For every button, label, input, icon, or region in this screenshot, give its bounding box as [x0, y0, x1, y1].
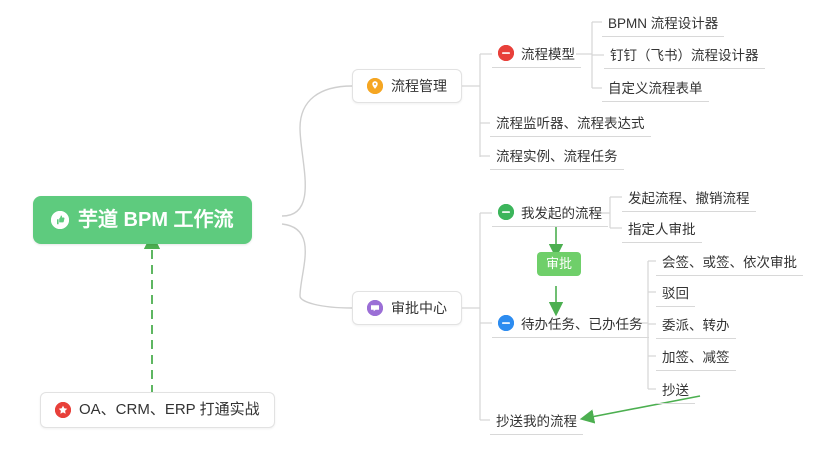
mindmap-canvas: 芋道 BPM 工作流 流程管理 流程模型 BPMN 流程设计器 钉钉（飞书）流程…: [0, 0, 814, 453]
tag-label: 审批: [546, 256, 572, 271]
node-label: 指定人审批: [628, 218, 696, 238]
node-label: 流程监听器、流程表达式: [496, 112, 645, 132]
bottom-note-label: OA、CRM、ERP 打通实战: [79, 393, 260, 427]
node-label: BPMN 流程设计器: [608, 12, 718, 32]
node-我发起的流程[interactable]: 我发起的流程: [492, 199, 608, 227]
node-label: 会签、或签、依次审批: [662, 251, 797, 271]
branch-label: 流程管理: [391, 69, 447, 103]
node-label: 抄送我的流程: [496, 410, 577, 430]
tag-审批: 审批: [537, 252, 581, 276]
node-加签减签[interactable]: 加签、减签: [656, 343, 736, 371]
node-label: 待办任务、已办任务: [521, 313, 643, 333]
node-label: 发起流程、撤销流程: [628, 187, 750, 207]
bottom-note[interactable]: OA、CRM、ERP 打通实战: [40, 392, 275, 428]
node-抄送[interactable]: 抄送: [656, 376, 695, 404]
node-抄送我的流程[interactable]: 抄送我的流程: [490, 407, 583, 435]
thumbs-up-icon: [51, 211, 69, 229]
minus-circle-icon: [498, 45, 514, 61]
node-listener-expression[interactable]: 流程监听器、流程表达式: [490, 109, 651, 137]
node-label: 驳回: [662, 282, 689, 302]
node-bpmn-designer[interactable]: BPMN 流程设计器: [602, 9, 724, 37]
root-node[interactable]: 芋道 BPM 工作流: [33, 196, 252, 244]
root-label: 芋道 BPM 工作流: [78, 196, 234, 244]
minus-circle-blue-icon: [498, 315, 514, 331]
branch-审批中心[interactable]: 审批中心: [352, 291, 462, 325]
node-label: 流程实例、流程任务: [496, 145, 618, 165]
node-委派转办[interactable]: 委派、转办: [656, 311, 736, 339]
minus-circle-green-icon: [498, 204, 514, 220]
node-label: 委派、转办: [662, 314, 730, 334]
node-会签或签依次审批[interactable]: 会签、或签、依次审批: [656, 248, 803, 276]
chat-bubble-icon: [367, 300, 383, 316]
node-instance-task[interactable]: 流程实例、流程任务: [490, 142, 624, 170]
node-流程模型[interactable]: 流程模型: [492, 40, 581, 68]
node-label: 钉钉（飞书）流程设计器: [610, 44, 759, 64]
node-待办已办任务[interactable]: 待办任务、已办任务: [492, 310, 649, 338]
branch-label: 审批中心: [391, 291, 447, 325]
node-指定人审批[interactable]: 指定人审批: [622, 215, 702, 243]
node-label: 抄送: [662, 379, 689, 399]
node-驳回[interactable]: 驳回: [656, 279, 695, 307]
node-发起撤销流程[interactable]: 发起流程、撤销流程: [622, 184, 756, 212]
branch-流程管理[interactable]: 流程管理: [352, 69, 462, 103]
star-circle-icon: [55, 402, 71, 418]
node-dingtalk-designer[interactable]: 钉钉（飞书）流程设计器: [604, 41, 765, 69]
node-custom-form[interactable]: 自定义流程表单: [602, 74, 709, 102]
node-label: 自定义流程表单: [608, 77, 703, 97]
location-pin-icon: [367, 78, 383, 94]
node-label: 我发起的流程: [521, 202, 602, 222]
node-label: 流程模型: [521, 43, 575, 63]
node-label: 加签、减签: [662, 346, 730, 366]
